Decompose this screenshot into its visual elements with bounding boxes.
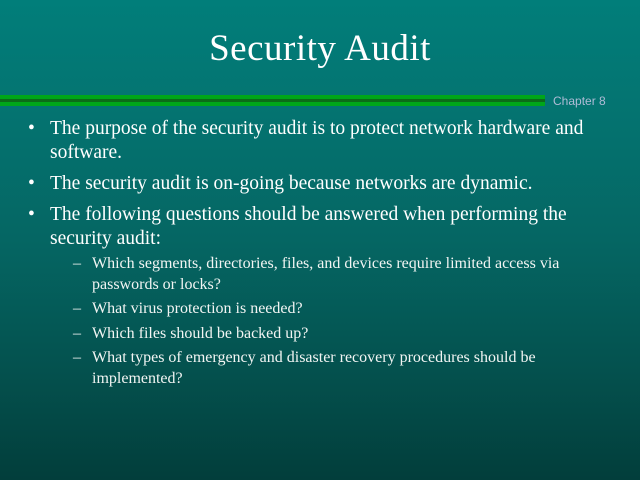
bullet-marker-icon: •	[28, 117, 35, 141]
list-item-text: What virus protection is needed?	[92, 300, 303, 317]
bullet-list-level1: • The purpose of the security audit is t…	[0, 117, 640, 389]
list-item-text: Which files should be backed up?	[92, 325, 308, 342]
slide-body: • The purpose of the security audit is t…	[0, 117, 640, 396]
sub-bullet-wrapper: – Which segments, directories, files, an…	[50, 254, 618, 389]
dash-marker-icon: –	[73, 348, 81, 369]
list-item-text: What types of emergency and disaster rec…	[92, 349, 536, 387]
list-item: • The following questions should be answ…	[0, 203, 640, 389]
title-block: Security Audit	[0, 30, 640, 67]
bullet-list-level2: – Which segments, directories, files, an…	[62, 254, 618, 389]
list-item: – What types of emergency and disaster r…	[62, 348, 618, 389]
divider-bar	[0, 95, 545, 106]
bullet-marker-icon: •	[28, 172, 35, 196]
presentation-slide: Security Audit Chapter 8 • The purpose o…	[0, 0, 640, 480]
header-divider-row: Chapter 8	[0, 94, 640, 112]
list-item-text: Which segments, directories, files, and …	[92, 255, 559, 293]
list-item: – What virus protection is needed?	[62, 299, 618, 320]
list-item-text: The following questions should be answer…	[50, 204, 567, 249]
list-item-text: The purpose of the security audit is to …	[50, 118, 583, 163]
dash-marker-icon: –	[73, 254, 81, 275]
bullet-marker-icon: •	[28, 203, 35, 227]
page-title: Security Audit	[0, 30, 640, 67]
list-item: – Which segments, directories, files, an…	[62, 254, 618, 295]
dash-marker-icon: –	[73, 324, 81, 345]
list-item-text: The security audit is on-going because n…	[50, 173, 532, 194]
dash-marker-icon: –	[73, 299, 81, 320]
list-item: • The security audit is on-going because…	[0, 172, 640, 196]
list-item: – Which files should be backed up?	[62, 324, 618, 345]
chapter-label: Chapter 8	[553, 94, 606, 108]
list-item: • The purpose of the security audit is t…	[0, 117, 640, 165]
